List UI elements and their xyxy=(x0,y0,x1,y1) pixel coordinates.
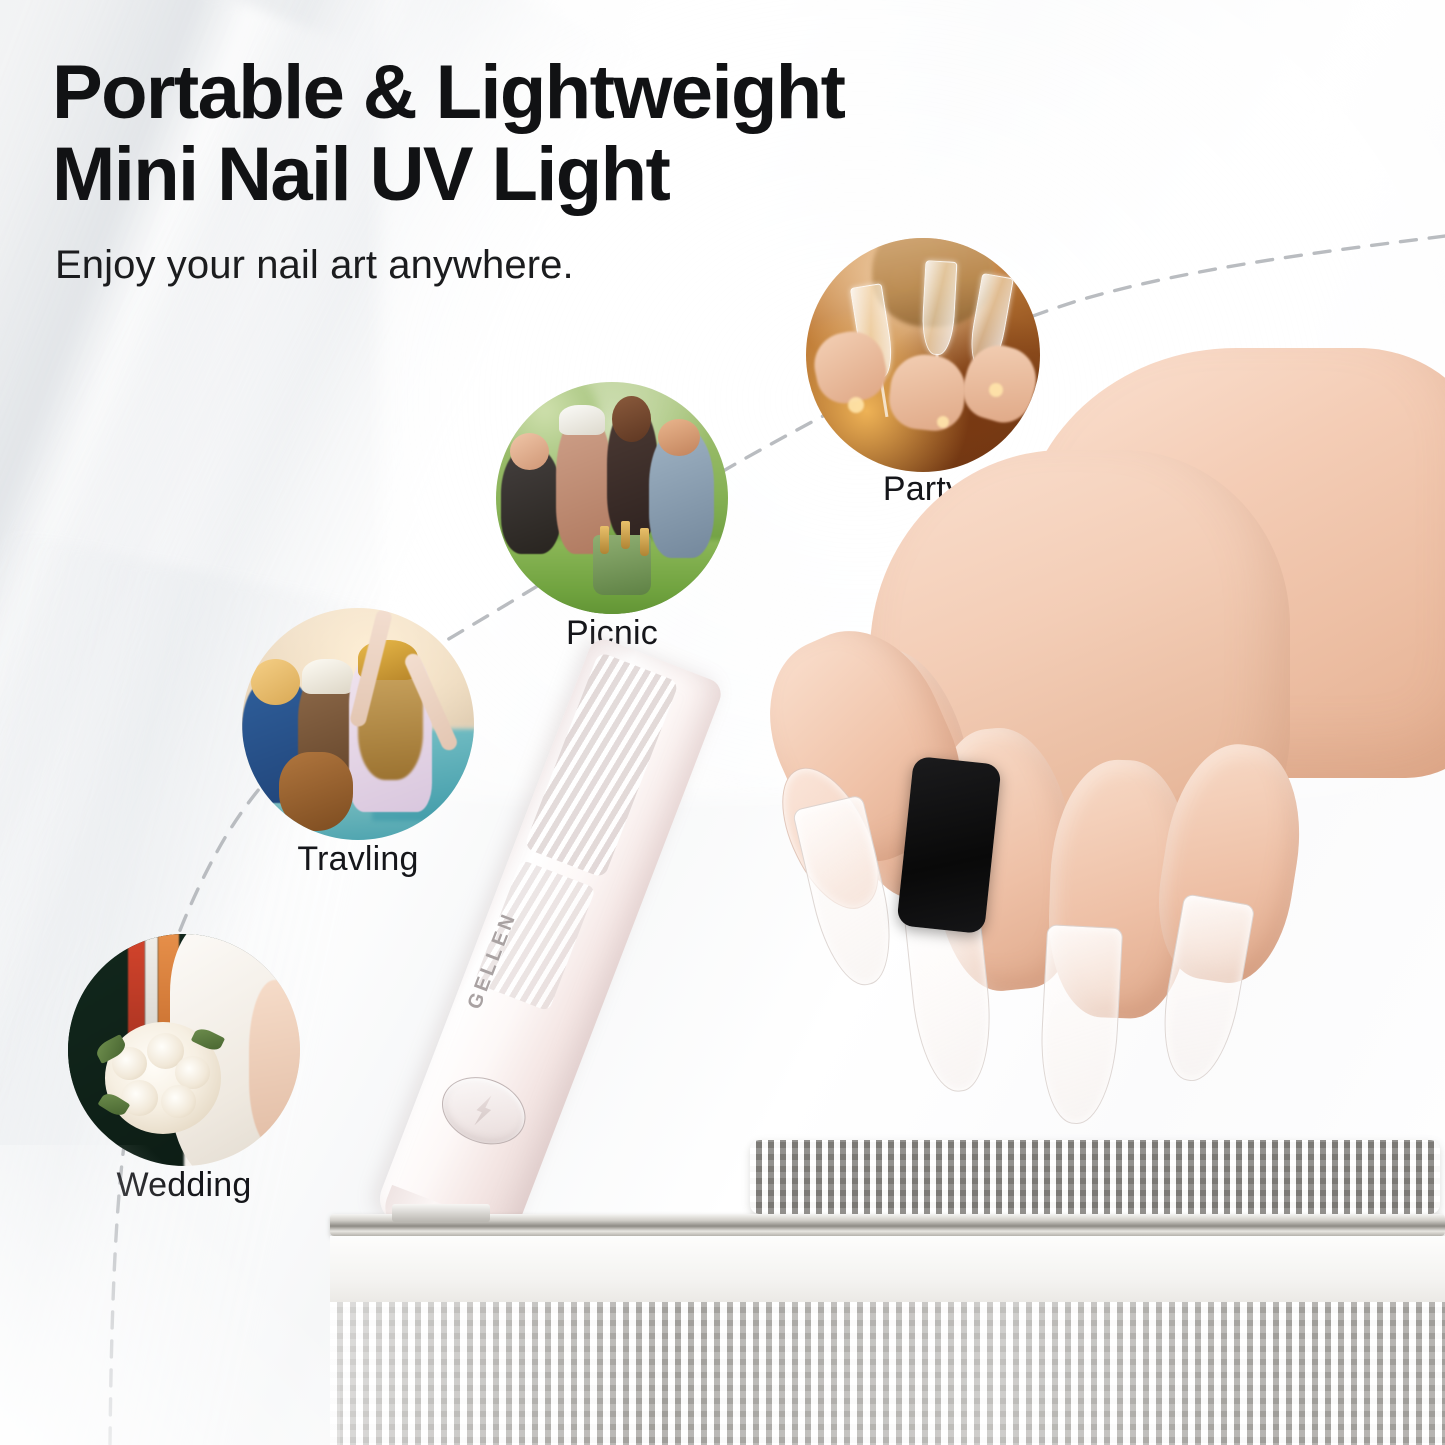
clutch-clasp-tab xyxy=(392,1204,490,1222)
bottle-icon xyxy=(640,528,649,556)
clutch-sheen xyxy=(330,1302,1445,1445)
page-subtitle: Enjoy your nail art anywhere. xyxy=(55,243,574,288)
travling-person-hat xyxy=(302,659,353,694)
power-button[interactable] xyxy=(432,1065,535,1156)
scene-photo-wedding xyxy=(68,934,300,1166)
guitar-icon xyxy=(279,752,353,831)
clutch-lip xyxy=(330,1236,1445,1308)
clutch-handle xyxy=(750,1140,1440,1214)
picnic-person-hat xyxy=(559,405,605,435)
rose xyxy=(175,1056,210,1089)
bottle-icon xyxy=(621,521,630,549)
hand-holding-product: GELLEN xyxy=(720,330,1445,1210)
lightning-bolt-icon xyxy=(467,1091,500,1131)
product-marketing-image: Portable & Lightweight Mini Nail UV Ligh… xyxy=(0,0,1445,1445)
clutch-metal-frame xyxy=(330,1214,1445,1236)
rose xyxy=(161,1085,196,1118)
black-polished-nail xyxy=(896,756,1001,934)
scene-photo-picnic xyxy=(496,382,728,614)
rose xyxy=(121,1080,158,1116)
bottom-left-fade xyxy=(0,1145,340,1445)
bottle-icon xyxy=(600,526,609,554)
scene-photo-travling xyxy=(242,608,474,840)
wedding-arm xyxy=(249,980,300,1147)
page-title: Portable & Lightweight Mini Nail UV Ligh… xyxy=(52,52,1052,216)
nail-extension xyxy=(1037,924,1123,1126)
bridal-bouquet xyxy=(105,1022,221,1133)
rhinestone-clutch-bag xyxy=(330,1184,1445,1445)
scene-label-travling: Travling xyxy=(242,840,474,879)
travling-person-head xyxy=(251,659,300,705)
